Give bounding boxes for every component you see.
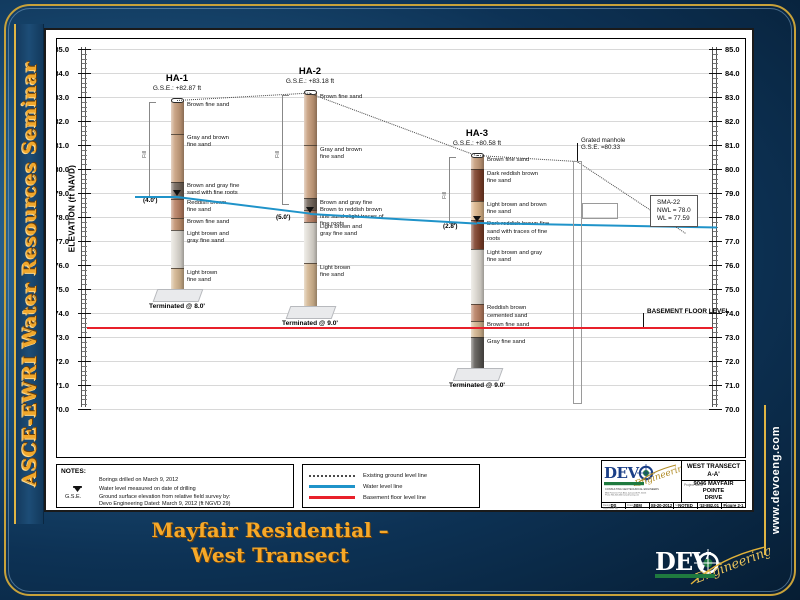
axis-minor-tick (713, 222, 718, 223)
water-level-depth-label: (5.0') (276, 214, 290, 221)
y-axis-tick-label: 82.0 (57, 117, 69, 126)
axis-minor-tick (713, 356, 718, 357)
axis-minor-tick (82, 92, 87, 93)
boring-name-label: HA-1 (137, 73, 217, 84)
legend-item: Basement floor level line (309, 492, 473, 503)
sheet-title-line2: A-A' (707, 471, 719, 478)
axis-major-tick (78, 289, 91, 290)
axis-minor-tick (713, 332, 718, 333)
y-axis-tick-label: 85.0 (725, 45, 745, 54)
boring-layer (471, 304, 484, 321)
notes-title: NOTES: (61, 468, 289, 475)
axis-minor-tick (82, 375, 87, 376)
gridline (87, 49, 711, 50)
y-axis-tick-label: 79.0 (725, 189, 745, 198)
water-level-depth-label: (2.8') (443, 223, 457, 230)
axis-minor-tick (82, 155, 87, 156)
devo-logo-icon: DEV Engineering CONSULTING GEOTECHNICAL … (602, 461, 682, 497)
manhole-label-line: G.S.E. =80.33 (581, 144, 625, 151)
axis-minor-tick (713, 390, 718, 391)
axis-major-tick (709, 265, 722, 266)
axis-major-tick (78, 73, 91, 74)
layer-description: Dark reddish brownfine sand (487, 171, 577, 185)
axis-minor-tick (713, 63, 718, 64)
axis-minor-tick (82, 399, 87, 400)
layer-description: Gray and brownfine sand (320, 147, 410, 161)
axis-minor-tick (82, 251, 87, 252)
axis-minor-tick (713, 198, 718, 199)
layer-separator (304, 263, 317, 264)
boring-name-label: HA-2 (270, 66, 350, 77)
layer-description: Light brown andgray fine sand (187, 231, 277, 245)
layer-description-line: Brown and gray fine (320, 200, 410, 207)
layer-separator (171, 230, 184, 231)
y-axis-tick-label: 70.0 (725, 405, 745, 414)
axis-minor-tick (82, 207, 87, 208)
layer-description-line: fine sand (320, 272, 410, 279)
axis-minor-tick (713, 251, 718, 252)
layer-description-line: fine sand (487, 209, 577, 216)
axis-minor-tick (82, 102, 87, 103)
note-item: Water level measured on date of drilling (61, 486, 289, 493)
note-tag: G.S.E. (61, 494, 95, 501)
axis-minor-tick (82, 107, 87, 108)
axis-major-tick (78, 265, 91, 266)
axis-minor-tick (713, 92, 718, 93)
water-level-depth-label: (4.0') (143, 197, 157, 204)
layer-separator (471, 304, 484, 305)
layer-description-line: Gray and brown (320, 147, 410, 154)
sma-nwl: NWL = 78.0 (657, 207, 691, 215)
boring-layer (171, 134, 184, 182)
layer-description-line: Brown and gray fine (187, 183, 277, 190)
axis-minor-tick (713, 275, 718, 276)
title-block-field-caption: Project No. (699, 504, 712, 507)
axis-minor-tick (713, 131, 718, 132)
axis-minor-tick (82, 131, 87, 132)
layer-description: Brown fine sand (187, 102, 277, 109)
note-item: G.S.E.Ground surface elevation from rela… (61, 494, 289, 507)
axis-major-tick (78, 97, 91, 98)
y-axis-tick-label: 75.0 (725, 285, 745, 294)
axis-minor-tick (82, 135, 87, 136)
axis-major-tick (709, 217, 722, 218)
slide-title-line2: West Transect (55, 543, 485, 568)
axis-minor-tick (82, 111, 87, 112)
legend-item: Water level line (309, 481, 473, 492)
layer-description-line: gray fine sand (320, 231, 410, 238)
axis-minor-tick (82, 59, 87, 60)
layer-description-line: Light brown (187, 270, 277, 277)
axis-minor-tick (82, 222, 87, 223)
layer-description: Brown fine sand (187, 219, 277, 226)
note-text: Ground surface elevation from relative f… (99, 494, 230, 507)
layer-separator (304, 198, 317, 199)
axis-major-tick (709, 145, 722, 146)
axis-minor-tick (82, 323, 87, 324)
axis-major-tick (78, 193, 91, 194)
layer-description-line: fine sand (187, 277, 277, 284)
y-axis-tick-label: 83.0 (57, 93, 69, 102)
layer-description: Light brown and brownfine sand (487, 202, 577, 216)
axis-minor-tick (82, 332, 87, 333)
boring-layer (471, 321, 484, 338)
axis-minor-tick (713, 116, 718, 117)
axis-minor-tick (82, 174, 87, 175)
devo-logo-footer: DEV Engineering (655, 540, 770, 586)
boring-gse-label: G.S.E.: +83.18 ft (262, 78, 358, 85)
axis-major-tick (78, 217, 91, 218)
boring-layer (171, 218, 184, 230)
boring-layer (304, 145, 317, 198)
y-axis-tick-label: 74.0 (57, 309, 69, 318)
title-block-field: Drawn ByJBM (626, 503, 650, 509)
legend-label: Water level line (363, 484, 402, 490)
axis-major-tick (709, 97, 722, 98)
boring-layer (171, 199, 184, 218)
y-axis-tick-label: 76.0 (725, 261, 745, 270)
boring-layer (471, 169, 484, 200)
seminar-banner-label: ASCE-EWRI Water Resources Seminar (19, 62, 41, 487)
boring-termination-shape (153, 289, 204, 302)
axis-major-tick (78, 169, 91, 170)
boring-termination-shape (453, 368, 504, 381)
axis-minor-tick (713, 183, 718, 184)
axis-minor-tick (713, 399, 718, 400)
layer-description-line: Reddish brown (487, 305, 577, 312)
axis-minor-tick (713, 203, 718, 204)
axis-minor-tick (713, 303, 718, 304)
legend-swatch (309, 475, 355, 477)
axis-minor-tick (713, 255, 718, 256)
layer-description-line: sand with traces of fine (487, 229, 577, 236)
note-item: Borings drilled on March 9, 2012 (61, 477, 289, 484)
axis-minor-tick (713, 212, 718, 213)
axis-minor-tick (713, 78, 718, 79)
boring-layer (471, 249, 484, 304)
project-caption: Project Name (684, 482, 703, 489)
axis-minor-tick (713, 236, 718, 237)
boring-column-ha-2 (304, 93, 317, 309)
title-block-field: FigureFigure 2-1 (722, 503, 745, 509)
axis-minor-tick (713, 395, 718, 396)
axis-minor-tick (82, 140, 87, 141)
axis-minor-tick (713, 347, 718, 348)
axis-minor-tick (82, 116, 87, 117)
layer-description-line: Brown fine sand (187, 102, 277, 109)
title-block-right: WEST TRANSECT A-A' Project Name 9046 MAY… (682, 461, 745, 502)
layer-description-line: Dark reddish brown (487, 171, 577, 178)
axis-major-tick (78, 121, 91, 122)
legend-item: Existing ground level line (309, 470, 473, 481)
website-url-label: www.devoeng.com (770, 426, 782, 534)
axis-minor-tick (82, 347, 87, 348)
water-level-line (135, 196, 177, 198)
boring-termination-label: Terminated @ 9.0' (432, 382, 522, 389)
layer-separator (471, 337, 484, 338)
boring-layer (304, 222, 317, 263)
layer-description-line: Brown fine sand (320, 94, 410, 101)
axis-minor-tick (82, 371, 87, 372)
layer-description-line: Brown fine sand (187, 219, 277, 226)
svg-text:CONSULTING GEOTECHNICAL ENGINE: CONSULTING GEOTECHNICAL ENGINEERS (605, 487, 659, 491)
title-block-field: Designed / Approved ByDS (602, 503, 626, 509)
axis-minor-tick (82, 203, 87, 204)
layer-description-line: gray fine sand (187, 238, 277, 245)
boring-name-label: HA-3 (437, 128, 517, 139)
y-axis-left (81, 47, 86, 407)
axis-minor-tick (82, 255, 87, 256)
axis-major-tick (78, 361, 91, 362)
axis-minor-tick (713, 404, 718, 405)
y-axis-tick-label: 84.0 (725, 69, 745, 78)
axis-minor-tick (82, 231, 87, 232)
axis-minor-tick (82, 78, 87, 79)
axis-major-tick (78, 145, 91, 146)
sheet-title-line1: WEST TRANSECT (687, 463, 740, 470)
layer-separator (304, 145, 317, 146)
legend-box: Existing ground level lineWater level li… (302, 464, 480, 508)
sma-name: SMA-22 (657, 199, 691, 207)
axis-major-tick (78, 409, 91, 410)
axis-minor-tick (82, 390, 87, 391)
basement-floor-label: BASEMENT FLOOR LEVEL (647, 308, 729, 315)
layer-separator (471, 201, 484, 202)
axis-minor-tick (82, 54, 87, 55)
axis-minor-tick (713, 260, 718, 261)
legend-swatch (309, 485, 355, 488)
fill-label: Fill (275, 138, 281, 158)
manhole-outlet (582, 203, 618, 220)
axis-minor-tick (82, 284, 87, 285)
layer-description-line: fine sand (320, 154, 410, 161)
y-axis-tick-label: 72.0 (725, 357, 745, 366)
axis-minor-tick (82, 308, 87, 309)
legend-label: Basement floor level line (363, 495, 426, 501)
axis-minor-tick (82, 351, 87, 352)
layer-description: Brown fine sand (320, 94, 410, 101)
axis-major-tick (709, 409, 722, 410)
legend-swatch (309, 496, 355, 499)
layer-description-line: Light brown and (187, 231, 277, 238)
boring-layer (471, 337, 484, 371)
axis-major-tick (709, 337, 722, 338)
project-line2: DRIVE (705, 495, 723, 501)
axis-minor-tick (713, 246, 718, 247)
axis-minor-tick (82, 342, 87, 343)
layer-separator (304, 222, 317, 223)
layer-description: Light brownfine sand (320, 265, 410, 279)
y-axis-tick-label: 81.0 (725, 141, 745, 150)
y-axis-tick-label: 72.0 (57, 357, 69, 366)
boring-termination-label: Terminated @ 9.0' (265, 320, 355, 327)
layer-separator (171, 134, 184, 135)
axis-major-tick (709, 169, 722, 170)
axis-minor-tick (713, 179, 718, 180)
axis-minor-tick (713, 174, 718, 175)
layer-description: Gray and brownfine sand (187, 135, 277, 149)
axis-minor-tick (713, 284, 718, 285)
axis-minor-tick (713, 299, 718, 300)
sma-info-box: SMA-22NWL = 78.0WL = 77.59 (650, 195, 698, 227)
axis-minor-tick (82, 150, 87, 151)
y-axis-tick-label: 84.0 (57, 69, 69, 78)
layer-separator (171, 268, 184, 269)
layer-description-line: Light brown and (320, 224, 410, 231)
axis-minor-tick (713, 375, 718, 376)
note-text: Borings drilled on March 9, 2012 (99, 477, 178, 483)
title-block-field-caption: Designed / Approved By (603, 504, 625, 510)
axis-minor-tick (713, 83, 718, 84)
manhole-label-line: Grated manhole (581, 137, 625, 144)
y-axis-tick-label: 78.0 (725, 213, 745, 222)
axis-minor-tick (713, 102, 718, 103)
title-block-main: DEV Engineering CONSULTING GEOTECHNICAL … (602, 461, 745, 503)
axis-major-tick (78, 241, 91, 242)
website-banner: www.devoeng.com (764, 405, 786, 555)
axis-minor-tick (713, 150, 718, 151)
y-axis-title: ELEVATION (ft NAVD) (68, 149, 77, 269)
axis-minor-tick (82, 68, 87, 69)
title-block: DEV Engineering CONSULTING GEOTECHNICAL … (601, 460, 746, 508)
axis-minor-tick (713, 107, 718, 108)
axis-minor-tick (713, 231, 718, 232)
layer-description: Light brown andgray fine sand (320, 224, 410, 238)
layer-description: Gray fine sand (487, 339, 577, 346)
axis-minor-tick (713, 111, 718, 112)
axis-minor-tick (82, 87, 87, 88)
fill-bracket (449, 157, 456, 224)
axis-minor-tick (713, 380, 718, 381)
slide-title: Mayfair Residential – West Transect (55, 518, 485, 568)
axis-minor-tick (713, 323, 718, 324)
axis-minor-tick (713, 318, 718, 319)
title-block-field-caption: Drawn By (627, 504, 638, 507)
axis-minor-tick (82, 356, 87, 357)
axis-major-tick (709, 49, 722, 50)
axis-minor-tick (82, 294, 87, 295)
y-axis-tick-label: 73.0 (725, 333, 745, 342)
layer-description: Brown and gray finesand with fine roots (187, 183, 277, 197)
boring-layer (171, 100, 184, 134)
axis-minor-tick (82, 63, 87, 64)
axis-minor-tick (82, 246, 87, 247)
axis-minor-tick (713, 270, 718, 271)
axis-major-tick (709, 361, 722, 362)
axis-minor-tick (82, 366, 87, 367)
axis-minor-tick (713, 164, 718, 165)
gridline (87, 385, 711, 386)
axis-major-tick (709, 385, 722, 386)
y-axis-tick-label: 83.0 (725, 93, 745, 102)
layer-description-line: roots (487, 236, 577, 243)
slide-title-line1: Mayfair Residential – (151, 518, 388, 542)
layer-description-line: cemented sand (487, 313, 577, 320)
axis-minor-tick (82, 83, 87, 84)
axis-minor-tick (713, 54, 718, 55)
axis-minor-tick (82, 198, 87, 199)
gridline (87, 337, 711, 338)
axis-minor-tick (82, 260, 87, 261)
axis-minor-tick (82, 183, 87, 184)
axis-minor-tick (713, 87, 718, 88)
y-axis-tick-label: 71.0 (725, 381, 745, 390)
cross-section-plot: 85.084.083.082.081.080.079.078.077.076.0… (56, 38, 746, 458)
gridline (87, 361, 711, 362)
project-name: Project Name 9046 MAYFAIR POINTE DRIVE (682, 481, 745, 502)
note-text: Water level measured on date of drilling (99, 486, 196, 492)
layer-separator (471, 169, 484, 170)
notes-box: NOTES: Borings drilled on March 9, 2012W… (56, 464, 294, 508)
axis-minor-tick (82, 236, 87, 237)
title-block-fields: Designed / Approved ByDSDrawn ByJBMDate0… (602, 503, 745, 509)
title-block-field-caption: Figure (723, 504, 730, 507)
legend-list: Existing ground level lineWater level li… (309, 470, 473, 503)
axis-minor-tick (82, 299, 87, 300)
boring-termination-shape (286, 306, 337, 319)
axis-minor-tick (82, 380, 87, 381)
axis-minor-tick (713, 126, 718, 127)
axis-minor-tick (82, 303, 87, 304)
y-axis-tick-label: 80.0 (725, 165, 745, 174)
boring-termination-label: Terminated @ 8.0' (132, 303, 222, 310)
axis-minor-tick (713, 155, 718, 156)
axis-minor-tick (82, 188, 87, 189)
boring-column-ha-3 (471, 155, 484, 371)
axis-minor-tick (713, 366, 718, 367)
layer-description: Light brownfine sand (187, 270, 277, 284)
axis-minor-tick (82, 164, 87, 165)
svg-text:Phone 904.464.4300 www.devoe: Phone 904.464.4300 www.devoeng.com (605, 495, 639, 497)
axis-major-tick (709, 289, 722, 290)
legend-label: Existing ground level line (363, 473, 427, 479)
axis-minor-tick (713, 207, 718, 208)
title-block-field: Project No.12-882.01 (698, 503, 722, 509)
gridline (87, 313, 711, 314)
layer-description: Light brown and grayfine sand (487, 250, 577, 264)
axis-minor-tick (713, 68, 718, 69)
axis-minor-tick (713, 140, 718, 141)
axis-major-tick (78, 49, 91, 50)
fill-label: Fill (442, 179, 448, 199)
axis-major-tick (78, 385, 91, 386)
title-block-field-caption: Date (651, 504, 656, 507)
y-axis-tick-label: 73.0 (57, 333, 69, 342)
boring-layer (304, 93, 317, 146)
axis-minor-tick (713, 279, 718, 280)
drawing-sheet: 85.084.083.082.081.080.079.078.077.076.0… (44, 28, 754, 512)
seminar-banner: ASCE-EWRI Water Resources Seminar (14, 24, 44, 524)
layer-description: Reddish browncemented sand (487, 305, 577, 319)
layer-separator (171, 182, 184, 183)
plot-interior: 85.084.083.082.081.080.079.078.077.076.0… (57, 39, 745, 457)
boring-gse-label: G.S.E.: +82.87 ft (129, 85, 225, 92)
fill-label: Fill (142, 138, 148, 158)
axis-minor-tick (82, 279, 87, 280)
axis-minor-tick (82, 404, 87, 405)
axis-minor-tick (713, 371, 718, 372)
layer-description-line: Brown to reddish brown (320, 207, 410, 214)
axis-minor-tick (82, 126, 87, 127)
axis-major-tick (709, 241, 722, 242)
manhole-leader (577, 143, 578, 161)
axis-major-tick (709, 73, 722, 74)
axis-minor-tick (82, 227, 87, 228)
axis-minor-tick (82, 212, 87, 213)
layer-separator (471, 321, 484, 322)
y-axis-tick-label: 82.0 (725, 117, 745, 126)
layer-description-line: fine sand (487, 178, 577, 185)
